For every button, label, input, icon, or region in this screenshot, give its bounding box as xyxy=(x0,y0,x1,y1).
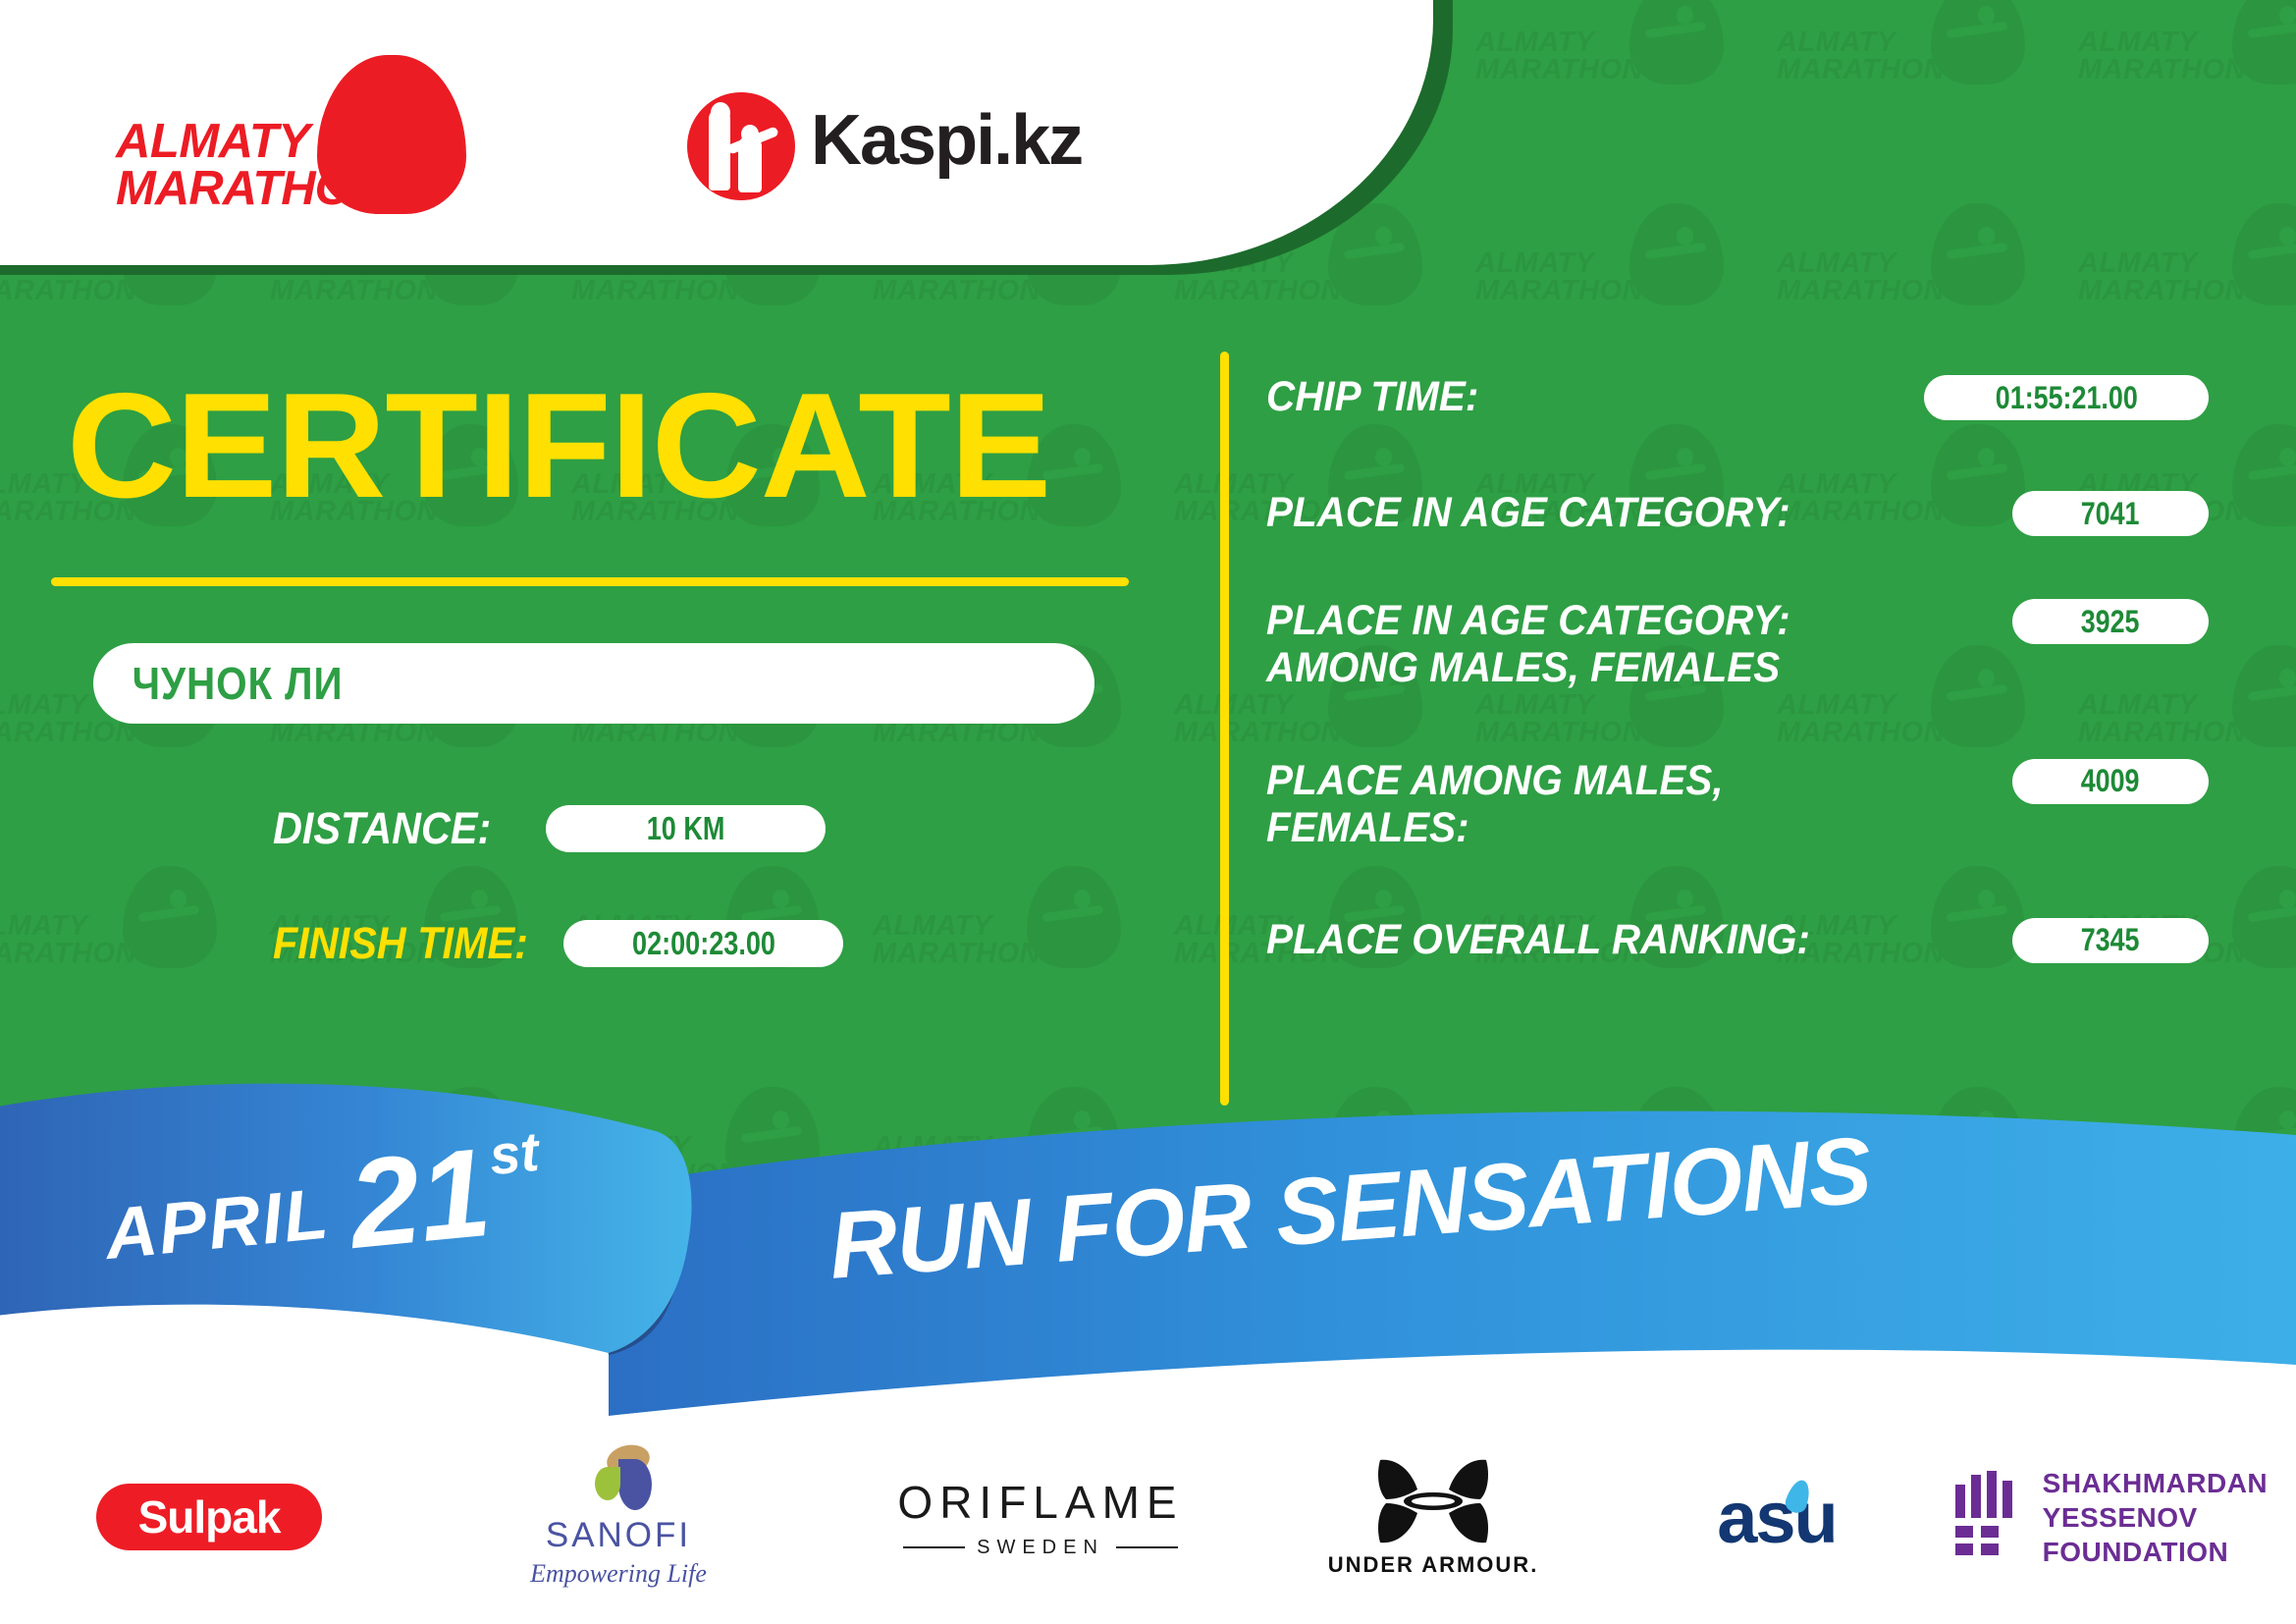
oriflame-country: SWEDEN xyxy=(977,1537,1104,1559)
sanofi-tagline: Empowering Life xyxy=(530,1559,707,1589)
participant-name-field: ЧУНОК ЛИ xyxy=(93,643,1095,724)
sanofi-blue-shape xyxy=(618,1459,652,1510)
yessenov-bar-2 xyxy=(1971,1475,1981,1518)
almau-text-value: asu xyxy=(1717,1477,1837,1558)
place-age-category-gender-value-pill: 3925 xyxy=(2012,599,2209,644)
kaspi-adult-head xyxy=(711,102,730,124)
watermark-label: ALMATYMARATHON xyxy=(0,913,136,968)
yessenov-bar-1 xyxy=(1955,1485,1965,1518)
oriflame-subline: SWEDEN xyxy=(903,1537,1178,1559)
yessenov-bar-4 xyxy=(2002,1481,2012,1518)
watermark-label: ALMATYMARATHON xyxy=(2078,250,2246,305)
vertical-yellow-divider xyxy=(1220,352,1229,1106)
watermark-runner-icon xyxy=(1647,227,1710,266)
participant-name-value: ЧУНОК ЛИ xyxy=(93,657,343,710)
watermark-runner-icon xyxy=(1949,227,2011,266)
logo-line-2: MARATHON xyxy=(116,165,385,212)
chip-time-row: CHIP TIME: 01:55:21.00 xyxy=(1266,373,2209,420)
event-ribbon-banner: APRIL 21 st RUN FOR SENSATIONS xyxy=(0,1070,2296,1463)
sulpak-pill-icon: Sulpak xyxy=(96,1484,322,1550)
watermark-runner-icon xyxy=(2250,6,2296,45)
almau-wordmark: asu xyxy=(1717,1476,1837,1559)
yessenov-block-3 xyxy=(1955,1543,1973,1555)
chip-time-value: 01:55:21.00 xyxy=(1996,380,2138,416)
place-age-category-value: 7041 xyxy=(2081,496,2140,532)
sanofi-figure-icon xyxy=(583,1445,654,1510)
distance-value-pill: 10 KM xyxy=(546,805,826,852)
event-day: 21 xyxy=(324,1142,495,1260)
yessenov-line-2: FOUNDATION xyxy=(2043,1535,2296,1569)
place-overall-ranking-label: PLACE OVERALL RANKING: xyxy=(1266,916,1810,963)
oriflame-rule-left xyxy=(903,1546,965,1548)
yessenov-wordmark: SHAKHMARDAN YESSENOV FOUNDATION xyxy=(2043,1466,2296,1569)
finish-time-row: FINISH TIME: 02:00:23.00 xyxy=(273,918,843,969)
watermark-runner-icon xyxy=(2250,669,2296,708)
watermark-tile: ALMATYMARATHON xyxy=(0,854,262,1075)
sanofi-wordmark: SANOFI xyxy=(546,1516,691,1555)
place-among-gender-value-pill: 4009 xyxy=(2012,759,2209,804)
watermark-runner-icon xyxy=(1044,448,1107,487)
yessenov-block-2 xyxy=(1981,1526,1999,1538)
page-title: CERTIFICATE xyxy=(67,371,1050,520)
watermark-runner-icon xyxy=(1044,890,1107,929)
title-underline-rule xyxy=(51,577,1129,586)
place-age-category-row: PLACE IN AGE CATEGORY: 7041 xyxy=(1266,489,2209,536)
watermark-runner-icon xyxy=(2250,890,2296,929)
sponsor-almau: asu xyxy=(1669,1476,1885,1559)
watermark-runner-icon xyxy=(1949,6,2011,45)
watermark-label: ALMATYMARATHON xyxy=(1777,29,1945,84)
chip-time-label: CHIP TIME: xyxy=(1266,373,1478,420)
watermark-tile: ALMATYMARATHON xyxy=(2070,0,2296,191)
place-age-category-value-pill: 7041 xyxy=(2012,491,2209,536)
place-age-category-gender-label: PLACE IN AGE CATEGORY: AMONG MALES, FEMA… xyxy=(1266,597,1912,691)
kaspi-child-head xyxy=(741,125,759,143)
watermark-runner-icon xyxy=(2250,448,2296,487)
place-age-category-gender-value: 3925 xyxy=(2081,604,2140,640)
watermark-runner-icon xyxy=(1647,6,1710,45)
almaty-marathon-logo: ALMATY MARATHON xyxy=(116,57,469,204)
watermark-tile: ALMATYMARATHON xyxy=(865,854,1166,1075)
sponsor-under-armour: UNDER ARMOUR. xyxy=(1306,1456,1561,1578)
yessenov-bars-icon xyxy=(1953,1471,2019,1563)
sponsor-sanofi: SANOFI Empowering Life xyxy=(491,1445,746,1589)
sponsor-sulpak: Sulpak xyxy=(96,1484,322,1550)
yessenov-bar-3 xyxy=(1987,1471,1997,1518)
distance-value: 10 KM xyxy=(646,810,724,847)
chip-time-value-pill: 01:55:21.00 xyxy=(1924,375,2209,420)
place-among-gender-row: PLACE AMONG MALES, FEMALES: 4009 xyxy=(1266,757,2209,851)
watermark-label: ALMATYMARATHON xyxy=(1475,29,1643,84)
results-stats-list: CHIP TIME: 01:55:21.00 PLACE IN AGE CATE… xyxy=(1266,373,2209,1006)
oriflame-rule-right xyxy=(1116,1546,1178,1548)
place-overall-ranking-row: PLACE OVERALL RANKING: 7345 xyxy=(1266,916,2209,963)
place-overall-ranking-value-pill: 7345 xyxy=(2012,918,2209,963)
oriflame-wordmark: ORIFLAME xyxy=(897,1476,1183,1529)
kaspi-logo: Kaspi.kz xyxy=(677,86,1090,204)
place-age-category-label: PLACE IN AGE CATEGORY: xyxy=(1266,489,1790,536)
watermark-runner-icon xyxy=(1346,227,1409,266)
distance-row: DISTANCE: 10 KM xyxy=(273,803,826,854)
watermark-tile: ALMATYMARATHON xyxy=(1468,0,1769,191)
under-armour-logo-icon xyxy=(1368,1456,1498,1546)
finish-time-label: FINISH TIME: xyxy=(273,918,528,969)
sponsor-logo-strip: Sulpak SANOFI Empowering Life ORIFLAME S… xyxy=(0,1429,2296,1605)
place-overall-ranking-value: 7345 xyxy=(2081,922,2140,958)
watermark-label: ALMATYMARATHON xyxy=(2078,29,2246,84)
under-armour-wordmark: UNDER ARMOUR. xyxy=(1328,1552,1539,1578)
kaspi-child-body xyxy=(738,135,762,192)
sponsor-oriflame: ORIFLAME SWEDEN xyxy=(893,1476,1188,1559)
logo-line-1: ALMATY xyxy=(116,118,385,165)
sanofi-green-shape xyxy=(595,1467,620,1500)
kaspi-wordmark: Kaspi.kz xyxy=(811,100,1082,181)
finish-time-value: 02:00:23.00 xyxy=(632,925,775,962)
sulpak-wordmark: Sulpak xyxy=(138,1490,281,1543)
watermark-runner-icon xyxy=(2250,227,2296,266)
watermark-label: ALMATYMARATHON xyxy=(1475,250,1643,305)
sponsor-yessenov-foundation: SHAKHMARDAN YESSENOV FOUNDATION xyxy=(1953,1466,2296,1569)
distance-label: DISTANCE: xyxy=(273,803,491,854)
kaspi-circle-icon xyxy=(687,92,795,200)
place-among-gender-label: PLACE AMONG MALES, FEMALES: xyxy=(1266,757,1912,851)
place-among-gender-value: 4009 xyxy=(2081,763,2140,799)
watermark-runner-icon xyxy=(140,890,203,929)
almaty-marathon-wordmark: ALMATY MARATHON xyxy=(116,118,385,212)
yessenov-block-4 xyxy=(1981,1543,1999,1555)
ua-glyph xyxy=(1368,1456,1498,1546)
watermark-label: ALMATYMARATHON xyxy=(873,913,1041,968)
place-age-category-gender-row: PLACE IN AGE CATEGORY: AMONG MALES, FEMA… xyxy=(1266,597,2209,691)
certificate-page: ALMATYMARATHONALMATYMARATHONALMATYMARATH… xyxy=(0,0,2296,1624)
yessenov-line-1: SHAKHMARDAN YESSENOV xyxy=(2043,1466,2296,1535)
watermark-tile: ALMATYMARATHON xyxy=(1769,0,2070,191)
finish-time-value-pill: 02:00:23.00 xyxy=(563,920,843,967)
yessenov-block-1 xyxy=(1955,1526,1973,1538)
watermark-label: ALMATYMARATHON xyxy=(1777,250,1945,305)
